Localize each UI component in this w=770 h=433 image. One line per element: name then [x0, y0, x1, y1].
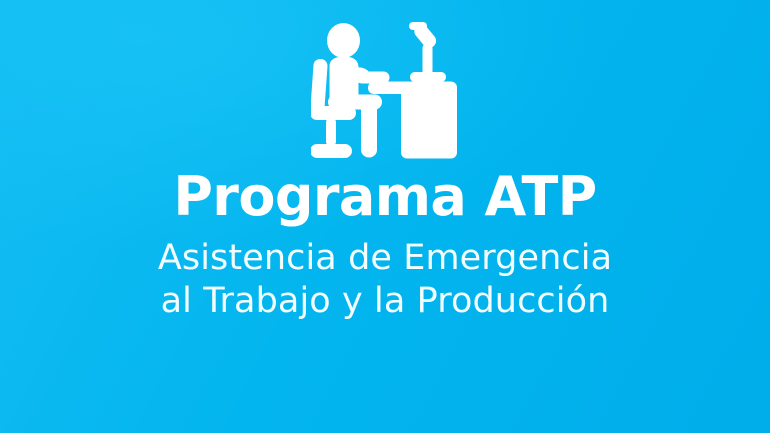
- lamp-head: [409, 22, 427, 30]
- chair-seat: [311, 106, 356, 120]
- page-title: Programa ATP: [0, 168, 770, 226]
- person-arm: [351, 67, 390, 83]
- desk-block: [401, 82, 457, 159]
- subtitle-line-1: Asistencia de Emergencia: [0, 237, 770, 280]
- text-block: Programa ATP Asistencia de Emergencia al…: [0, 168, 770, 323]
- chair-post: [326, 119, 336, 145]
- person-shin: [361, 100, 377, 158]
- person-at-desk-with-lamp-icon: [311, 22, 459, 164]
- subtitle-group: Asistencia de Emergencia al Trabajo y la…: [0, 237, 770, 323]
- poster-canvas: Programa ATP Asistencia de Emergencia al…: [0, 0, 770, 433]
- subtitle-line-2: al Trabajo y la Producción: [0, 280, 770, 323]
- lamp-post: [423, 44, 433, 75]
- person-head: [327, 23, 360, 58]
- hero-icon-container: [0, 22, 770, 164]
- chair-base: [311, 144, 352, 158]
